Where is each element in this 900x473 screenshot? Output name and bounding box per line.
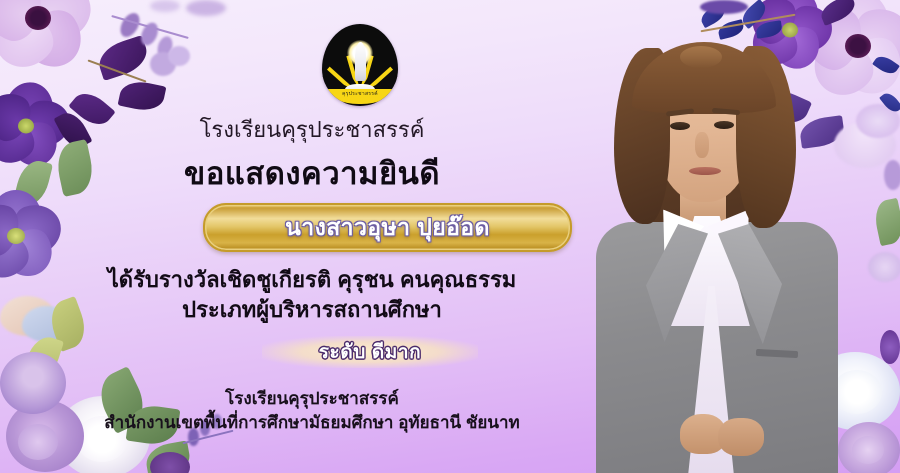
eye-right: [714, 121, 734, 129]
nose: [695, 132, 709, 158]
level-badge-label: ระดับ ดีมาก: [319, 337, 422, 367]
honoree-name-pill: นางสาวอุษา ปุยอ๊อด: [203, 203, 572, 252]
hand-right: [718, 418, 764, 456]
level-badge: ระดับ ดีมาก: [262, 336, 478, 368]
honoree-name: นางสาวอุษา ปุยอ๊อด: [285, 210, 490, 246]
text-content: โรงเรียนคุรุประชาสรรค์ ขอแสดงความยินดี น…: [0, 0, 624, 473]
hair-part: [680, 46, 722, 68]
award-line-2: ประเภทผู้บริหารสถานศึกษา: [0, 292, 624, 327]
congratulations-headline: ขอแสดงความยินดี: [0, 148, 624, 198]
mouth: [689, 167, 721, 175]
footer-line-1: โรงเรียนคุรุประชาสรรค์: [0, 385, 624, 412]
footer-line-2: สำนักงานเขตพื้นที่การศึกษามัธยมศึกษา อุท…: [0, 409, 624, 436]
school-name-top: โรงเรียนคุรุประชาสรรค์: [0, 112, 624, 147]
honoree-portrait: [560, 34, 860, 473]
congratulation-banner: คุรุประชาสรรค์ โรงเรียนคุรุประชาสรรค์ ขอ…: [0, 0, 900, 473]
eye-left: [670, 122, 690, 130]
